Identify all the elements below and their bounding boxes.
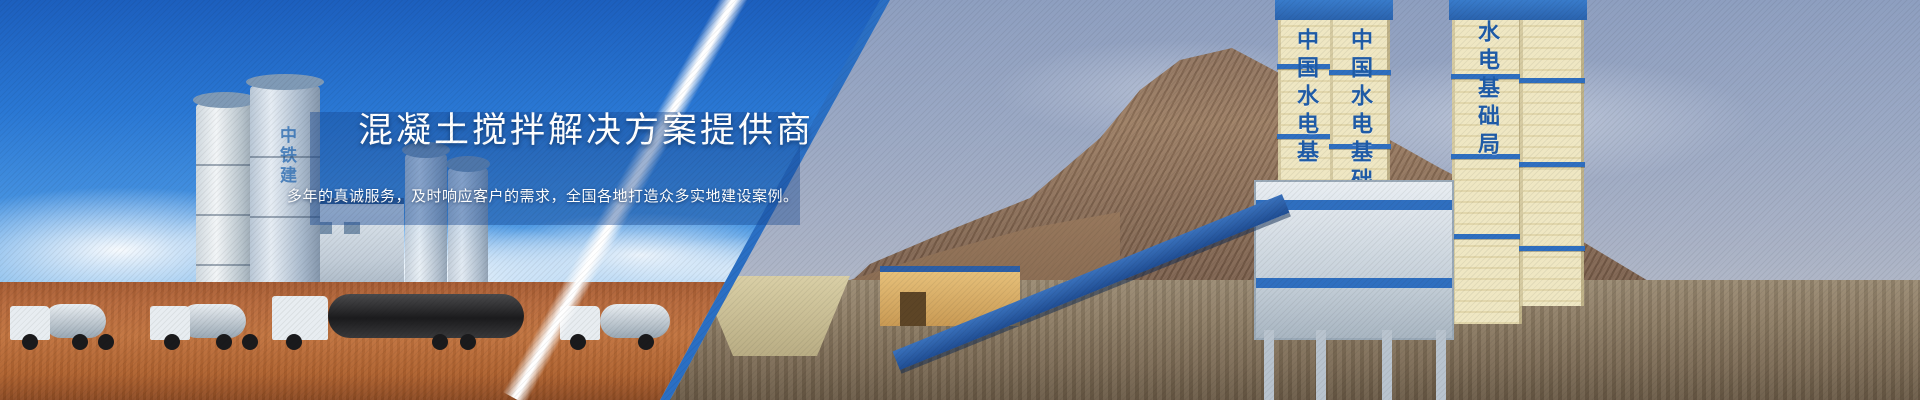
silo-ring xyxy=(1451,234,1523,239)
silo-ring xyxy=(196,214,254,216)
silo-ring xyxy=(196,164,254,166)
building-band xyxy=(1256,278,1452,288)
tan-silo-d xyxy=(1520,0,1584,306)
tan-silo-c: 水电基础局 xyxy=(1452,0,1522,324)
silo-cap-icon xyxy=(193,92,258,108)
truck-wheel xyxy=(460,334,476,350)
truck-wheel xyxy=(22,334,38,350)
silo-cap-icon xyxy=(1517,0,1587,20)
truck-wheel xyxy=(164,334,180,350)
truck-wheel xyxy=(638,334,654,350)
silo-cap-icon xyxy=(1327,0,1393,20)
truck-wheel xyxy=(242,334,258,350)
truck-cab xyxy=(272,296,328,340)
silo-label-right: 中国水电基 xyxy=(1290,28,1322,168)
shed-door xyxy=(900,292,926,326)
banner-subheadline: 多年的真诚服务，及时响应客户的需求，全国各地打造众多实地建设案例。 xyxy=(287,184,799,210)
hero-banner: 中铁建 xyxy=(0,0,1920,400)
silo-ring xyxy=(1519,78,1585,83)
silo-cap-icon xyxy=(1449,0,1525,20)
truck-wheel xyxy=(432,334,448,350)
support-leg xyxy=(1316,330,1326,400)
tanker-body xyxy=(328,294,524,338)
silo-cap-icon xyxy=(246,74,324,90)
mixer-drum xyxy=(600,304,670,338)
banner-headline: 混凝土搅拌解决方案提供商 xyxy=(358,108,814,154)
truck-wheel xyxy=(98,334,114,350)
plant-support-legs xyxy=(1254,330,1454,400)
truck-wheel xyxy=(216,334,232,350)
silo-label-right: 水电基础局 xyxy=(1471,20,1503,160)
silo-ring xyxy=(196,264,254,266)
mixer-drum xyxy=(44,304,106,338)
support-leg xyxy=(1264,330,1274,400)
silo-ring xyxy=(1519,246,1585,251)
silo-ring xyxy=(1519,162,1585,167)
support-leg xyxy=(1436,330,1446,400)
truck-wheel xyxy=(72,334,88,350)
support-leg xyxy=(1382,330,1392,400)
truck-wheel xyxy=(570,334,586,350)
truck-wheel xyxy=(286,334,302,350)
silo-large-a xyxy=(196,104,254,304)
